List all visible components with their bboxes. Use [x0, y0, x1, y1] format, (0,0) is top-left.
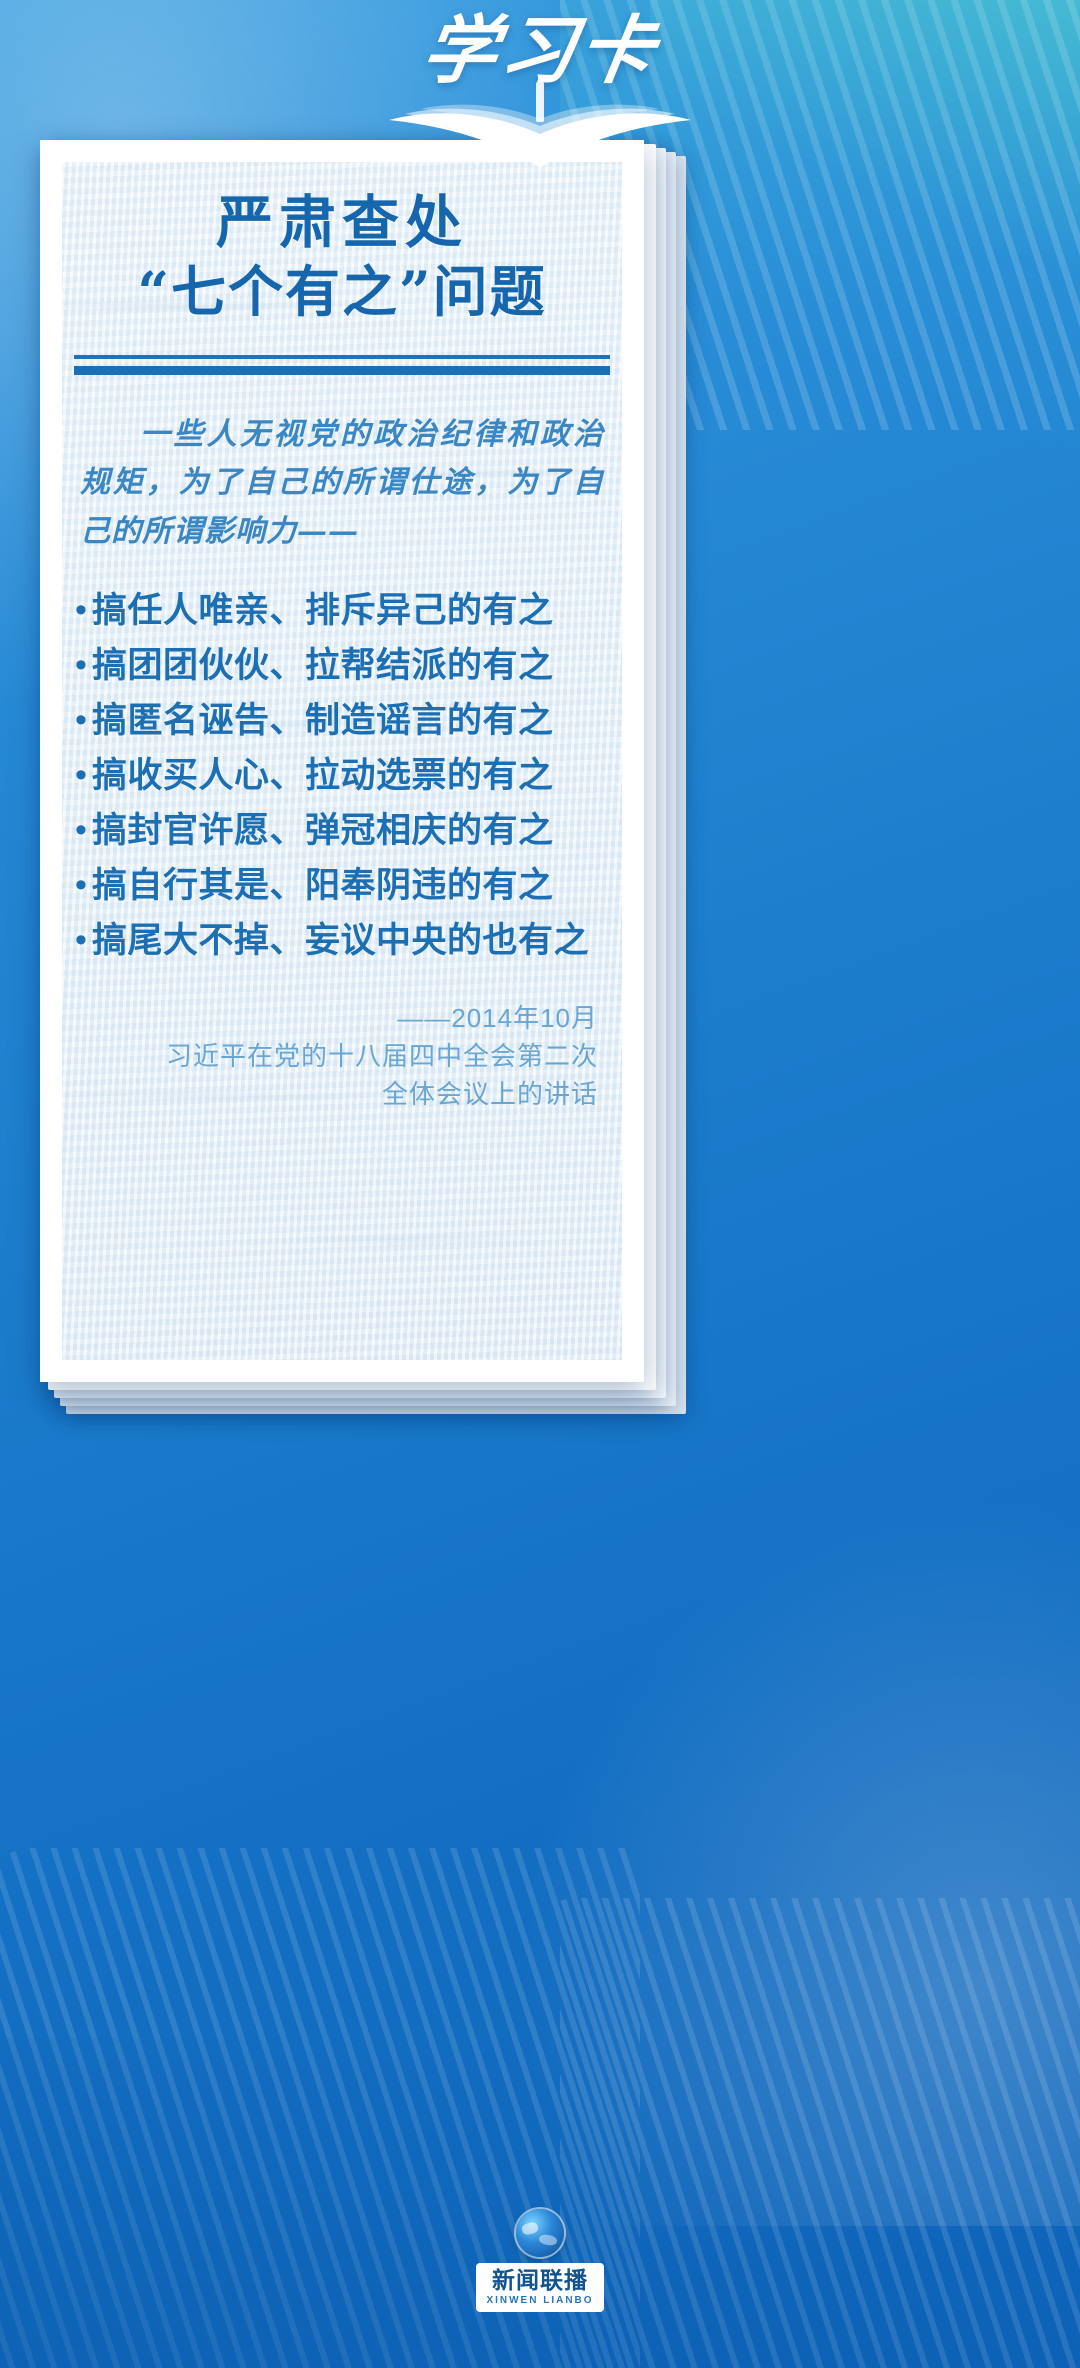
attribution-source-line-1: 习近平在党的十八届四中全会第二次 — [68, 1038, 598, 1076]
bullet-text: 搞收买人心、拉动选票的有之 — [92, 755, 554, 797]
logo-label-en: XINWEN LIANBO — [486, 2295, 593, 2306]
bullet-text: 搞封官许愿、弹冠相庆的有之 — [92, 810, 554, 852]
list-item: • 搞收买人心、拉动选票的有之 — [70, 755, 616, 797]
card-content: 严肃查处 “七个有之”问题 一些人无视党的政治纪律和政治规矩，为了自己的所谓仕途… — [40, 140, 644, 1382]
divider-gap — [74, 359, 610, 366]
bullet-dot-icon: • — [70, 810, 92, 850]
bullet-text: 搞任人唯亲、排斥异己的有之 — [92, 590, 554, 632]
bullet-dot-icon: • — [70, 700, 92, 740]
attribution-source-line-2: 全体会议上的讲话 — [68, 1076, 598, 1114]
globe-icon — [516, 2209, 564, 2257]
divider-thick-rule — [74, 366, 610, 375]
title-divider — [74, 355, 610, 375]
background-stripes-bottom-right — [560, 1898, 1080, 2368]
bullet-text: 搞团团伙伙、拉帮结派的有之 — [92, 645, 554, 687]
intro-paragraph: 一些人无视党的政治纪律和政治规矩，为了自己的所谓仕途，为了自己的所谓影响力—— — [80, 411, 604, 557]
list-item: • 搞团团伙伙、拉帮结派的有之 — [70, 645, 616, 687]
brand-title: 学习卡 — [417, 14, 663, 88]
bullet-dot-icon: • — [70, 865, 92, 905]
title-line-2: “七个有之”问题 — [68, 258, 616, 325]
attribution-date: ——2014年10月 — [68, 1000, 598, 1038]
page-title: 严肃查处 “七个有之”问题 — [68, 188, 616, 325]
list-item: • 搞尾大不掉、妄议中央的也有之 — [70, 920, 616, 962]
bullet-text: 搞自行其是、阳奉阴违的有之 — [92, 865, 554, 907]
brand-inner: 学习卡 — [330, 8, 750, 168]
open-book-icon — [375, 82, 705, 168]
bullet-dot-icon: • — [70, 645, 92, 685]
bullet-dot-icon: • — [70, 755, 92, 795]
bullet-text: 搞匿名诬告、制造谣言的有之 — [92, 700, 554, 742]
card-stack: 严肃查处 “七个有之”问题 一些人无视党的政治纪律和政治规矩，为了自己的所谓仕途… — [40, 140, 1040, 1430]
bullet-dot-icon: • — [70, 920, 92, 960]
title-line-1: 严肃查处 — [68, 188, 616, 258]
footer-logo: 新闻联播 XINWEN LIANBO — [445, 2209, 635, 2312]
list-item: • 搞自行其是、阳奉阴违的有之 — [70, 865, 616, 907]
bullet-dot-icon: • — [70, 590, 92, 630]
list-item: • 搞任人唯亲、排斥异己的有之 — [70, 590, 616, 632]
list-item: • 搞匿名诬告、制造谣言的有之 — [70, 700, 616, 742]
attribution: ——2014年10月 习近平在党的十八届四中全会第二次 全体会议上的讲话 — [68, 1000, 598, 1113]
bullet-list: • 搞任人唯亲、排斥异己的有之 • 搞团团伙伙、拉帮结派的有之 • 搞匿名诬告、… — [70, 590, 616, 962]
bullet-text: 搞尾大不掉、妄议中央的也有之 — [92, 920, 589, 962]
study-card: 严肃查处 “七个有之”问题 一些人无视党的政治纪律和政治规矩，为了自己的所谓仕途… — [40, 140, 644, 1382]
logo-label-cn: 新闻联播 — [486, 2268, 593, 2293]
logo-plate: 新闻联播 XINWEN LIANBO — [476, 2263, 603, 2312]
header-brand: 学习卡 — [0, 0, 1080, 175]
list-item: • 搞封官许愿、弹冠相庆的有之 — [70, 810, 616, 852]
